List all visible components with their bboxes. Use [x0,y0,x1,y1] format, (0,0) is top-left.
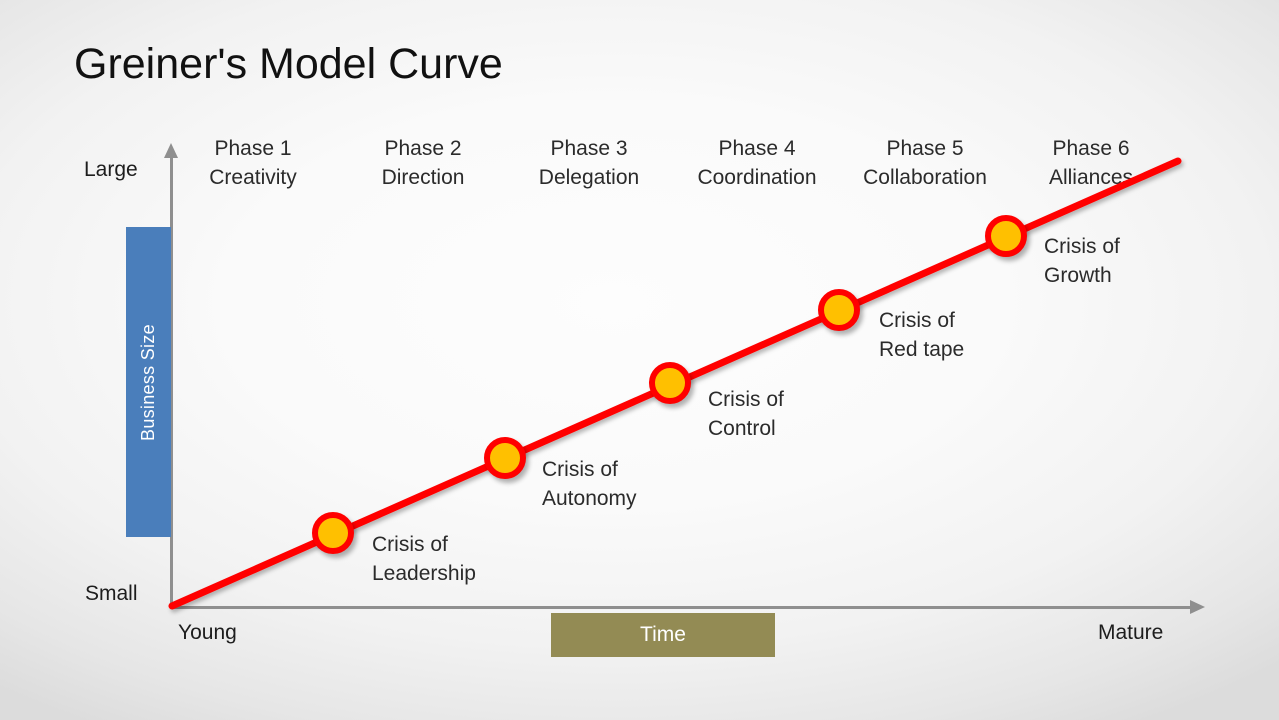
slide-canvas: Greiner's Model Curve Phase 1 Creativity… [0,0,1279,720]
crisis-label-autonomy: Crisis of Autonomy [542,455,637,513]
phase-name-4: Coordination [672,163,842,192]
y-axis-arrow-icon [164,143,178,158]
phase-number-2: Phase 2 [338,134,508,163]
crisis-node-autonomy[interactable] [484,437,526,479]
crisis-label-leadership-line1: Crisis of [372,530,476,559]
crisis-label-leadership: Crisis of Leadership [372,530,476,588]
phase-name-2: Direction [338,163,508,192]
phase-header-5: Phase 5 Collaboration [840,134,1010,192]
phase-header-6: Phase 6 Alliances [1006,134,1176,192]
time-label: Time [640,623,686,647]
y-axis-bottom-label: Small [85,582,138,606]
phase-number-3: Phase 3 [504,134,674,163]
phase-header-3: Phase 3 Delegation [504,134,674,192]
crisis-node-control[interactable] [649,362,691,404]
crisis-label-red-tape-line1: Crisis of [879,306,964,335]
crisis-label-control-line2: Control [708,414,784,443]
phase-header-2: Phase 2 Direction [338,134,508,192]
phase-number-4: Phase 4 [672,134,842,163]
crisis-label-growth-line2: Growth [1044,261,1120,290]
phase-header-1: Phase 1 Creativity [168,134,338,192]
page-title: Greiner's Model Curve [74,40,503,89]
x-axis-arrow-icon [1190,600,1205,614]
time-bar: Time [551,613,775,657]
phase-header-4: Phase 4 Coordination [672,134,842,192]
phase-name-6: Alliances [1006,163,1176,192]
crisis-label-growth-line1: Crisis of [1044,232,1120,261]
crisis-label-leadership-line2: Leadership [372,559,476,588]
x-axis-start-label: Young [178,621,237,645]
y-axis-top-label: Large [84,158,138,182]
phase-name-5: Collaboration [840,163,1010,192]
crisis-node-leadership[interactable] [312,512,354,554]
crisis-label-control: Crisis of Control [708,385,784,443]
phase-number-5: Phase 5 [840,134,1010,163]
phase-number-1: Phase 1 [168,134,338,163]
crisis-label-control-line1: Crisis of [708,385,784,414]
phase-name-3: Delegation [504,163,674,192]
crisis-label-autonomy-line1: Crisis of [542,455,637,484]
crisis-label-autonomy-line2: Autonomy [542,484,637,513]
x-axis-line [170,606,1192,609]
crisis-node-red-tape[interactable] [818,289,860,331]
crisis-node-growth[interactable] [985,215,1027,257]
phase-number-6: Phase 6 [1006,134,1176,163]
crisis-label-red-tape-line2: Red tape [879,335,964,364]
business-size-bar: Business Size [126,227,171,537]
crisis-label-red-tape: Crisis of Red tape [879,306,964,364]
phase-name-1: Creativity [168,163,338,192]
crisis-label-growth: Crisis of Growth [1044,232,1120,290]
x-axis-end-label: Mature [1098,621,1163,645]
growth-curve [0,0,1279,720]
business-size-label: Business Size [138,324,159,441]
